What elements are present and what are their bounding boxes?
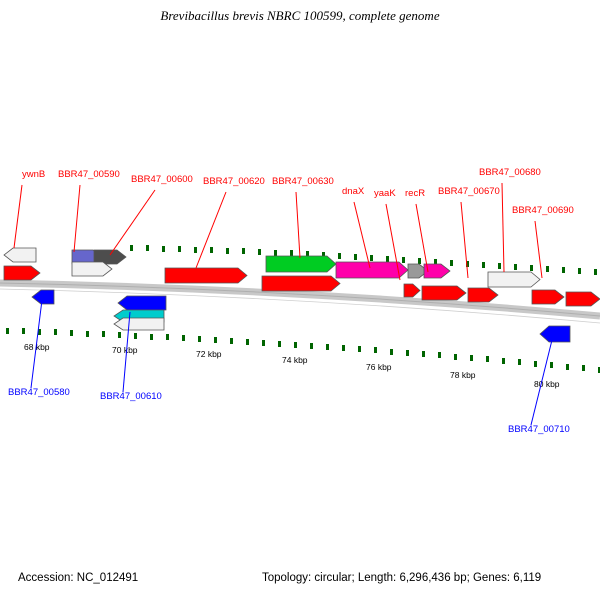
tick-marker: [210, 247, 213, 253]
tick-marker: [54, 329, 57, 335]
gene-label[interactable]: yaaK: [374, 188, 396, 199]
tick-marker: [182, 335, 185, 341]
tick-marker: [422, 351, 425, 357]
tick-marker: [310, 343, 313, 349]
tick-marker: [530, 265, 533, 271]
gene-label[interactable]: recR: [405, 188, 425, 199]
tick-marker: [178, 246, 181, 252]
tick-marker: [214, 337, 217, 343]
gene-labels-top: ywnBBBR47_00590BBR47_00600BBR47_00620BBR…: [22, 167, 574, 216]
gene-label[interactable]: BBR47_00590: [58, 169, 120, 180]
tick-marker: [386, 256, 389, 262]
gene-00710-blue[interactable]: [540, 326, 570, 342]
tick-marker: [134, 333, 137, 339]
tick-marker: [582, 365, 585, 371]
tick-marker: [546, 266, 549, 272]
gene-label[interactable]: BBR47_00630: [272, 176, 334, 187]
tick-marker: [498, 263, 501, 269]
label-leader-line: [296, 192, 300, 258]
gene-00620-red[interactable]: [165, 268, 247, 283]
gene-label[interactable]: ywnB: [22, 169, 45, 180]
tick-marker: [294, 342, 297, 348]
gene-label[interactable]: BBR47_00610: [100, 391, 162, 402]
gene-00590-red[interactable]: [4, 266, 40, 280]
tick-marker: [326, 344, 329, 350]
gene-label[interactable]: BBR47_00600: [131, 174, 193, 185]
gene-labels-bottom: BBR47_00580BBR47_00610BBR47_00710: [8, 387, 570, 435]
tick-marker: [370, 255, 373, 261]
gene-00610-blue[interactable]: [118, 296, 166, 310]
gene-00670-red[interactable]: [422, 286, 466, 300]
genome-stats-text: Topology: circular; Length: 6,296,436 bp…: [262, 572, 541, 584]
ruler-tick-label: 74 kbp: [282, 355, 308, 365]
tick-marker: [230, 338, 233, 344]
ruler-tick-label: 72 kbp: [196, 349, 222, 359]
tick-marker: [338, 253, 341, 259]
tick-marker: [502, 358, 505, 364]
tick-marker: [226, 248, 229, 254]
tick-marker: [406, 350, 409, 356]
tick-markers-bottom: [6, 328, 600, 373]
gene-00680-white[interactable]: [488, 272, 540, 287]
tick-marker: [438, 352, 441, 358]
tick-marker: [146, 245, 149, 251]
ruler-tick-label: 78 kbp: [450, 370, 476, 380]
ruler-tick-label: 70 kbp: [112, 345, 138, 355]
gene-00690-red[interactable]: [532, 290, 564, 304]
label-leader-line: [196, 192, 226, 268]
tick-marker: [150, 334, 153, 340]
tick-marker: [198, 336, 201, 342]
gene-label[interactable]: BBR47_00580: [8, 387, 70, 398]
tick-marker: [566, 364, 569, 370]
tick-marker: [278, 341, 281, 347]
gene-small-red-1[interactable]: [404, 284, 420, 297]
tick-marker: [594, 269, 597, 275]
ruler-tick-label: 80 kbp: [534, 379, 560, 389]
label-leader-line: [14, 185, 22, 248]
tick-marker: [402, 257, 405, 263]
gene-00610-white[interactable]: [114, 318, 164, 330]
tick-marker: [70, 330, 73, 336]
tick-marker: [578, 268, 581, 274]
tick-marker: [418, 258, 421, 264]
tick-marker: [486, 356, 489, 362]
tick-marker: [358, 346, 361, 352]
gene-00675-red[interactable]: [468, 288, 498, 302]
tick-marker: [514, 264, 517, 270]
tick-marker: [166, 334, 169, 340]
gene-label[interactable]: BBR47_00680: [479, 167, 541, 178]
tick-marker: [342, 345, 345, 351]
label-leader-line: [416, 204, 428, 272]
gene-label[interactable]: BBR47_00670: [438, 186, 500, 197]
gene-ywnB[interactable]: [4, 248, 36, 262]
label-leader-line: [74, 185, 80, 252]
tick-marker: [390, 349, 393, 355]
gene-label[interactable]: BBR47_00690: [512, 205, 574, 216]
tick-marker: [258, 249, 261, 255]
gene-00625-red[interactable]: [262, 276, 340, 291]
tick-marker: [550, 362, 553, 368]
gene-00600-white[interactable]: [72, 262, 112, 276]
ruler-ticks: 68 kbp70 kbp72 kbp74 kbp76 kbp78 kbp80 k…: [24, 342, 560, 389]
gene-label[interactable]: BBR47_00620: [203, 176, 265, 187]
label-leader-line: [461, 202, 468, 278]
tick-marker: [130, 245, 133, 251]
tick-marker: [518, 359, 521, 365]
tick-marker: [470, 355, 473, 361]
genome-diagram: 68 kbp70 kbp72 kbp74 kbp76 kbp78 kbp80 k…: [0, 0, 600, 600]
gene-label[interactable]: dnaX: [342, 186, 365, 197]
genome-map-viewer: Brevibacillus brevis NBRC 100599, comple…: [0, 0, 600, 600]
tick-marker: [374, 347, 377, 353]
gene-00580-blue[interactable]: [32, 290, 54, 304]
tick-marker: [86, 331, 89, 337]
tick-marker: [534, 361, 537, 367]
tick-marker: [562, 267, 565, 273]
label-leader-line: [535, 221, 542, 278]
tick-marker: [162, 246, 165, 252]
tick-marker: [290, 250, 293, 256]
gene-label[interactable]: BBR47_00710: [508, 424, 570, 435]
tick-marker: [22, 328, 25, 334]
gene-00630-green[interactable]: [266, 256, 336, 272]
tick-marker: [482, 262, 485, 268]
tick-marker: [274, 250, 277, 256]
tick-marker: [450, 260, 453, 266]
tick-marker: [354, 254, 357, 260]
ruler-tick-label: 76 kbp: [366, 362, 392, 372]
tick-marker: [102, 331, 105, 337]
label-leader-line: [502, 183, 504, 272]
tick-marker: [6, 328, 9, 334]
tick-marker: [454, 354, 457, 360]
tick-marker: [246, 339, 249, 345]
tick-marker: [262, 340, 265, 346]
tick-marker: [194, 247, 197, 253]
accession-text: Accession: NC_012491: [18, 572, 138, 584]
tick-marker: [118, 332, 121, 338]
gene-00690b-red[interactable]: [566, 292, 600, 306]
tick-marker: [242, 248, 245, 254]
